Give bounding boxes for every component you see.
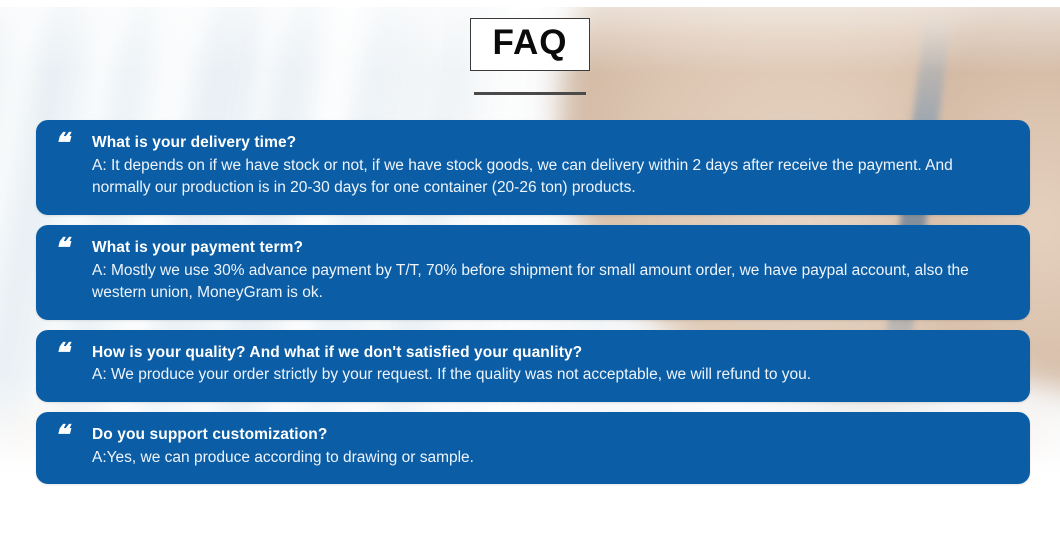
faq-list: ❝ What is your delivery time? A: It depe… [36, 120, 1030, 494]
faq-question: Do you support customization? [92, 425, 1012, 445]
faq-heading-block: FAQ [0, 18, 1060, 95]
faq-section: FAQ ❝ What is your delivery time? A: It … [0, 0, 1060, 549]
faq-answer: A: Mostly we use 30% advance payment by … [92, 260, 1012, 305]
faq-question: What is your payment term? [92, 238, 1012, 258]
faq-item[interactable]: ❝ Do you support customization? A:Yes, w… [36, 412, 1030, 484]
quote-icon: ❝ [54, 237, 78, 259]
quote-icon: ❝ [54, 424, 78, 446]
faq-heading-underline [474, 92, 586, 95]
faq-item[interactable]: ❝ What is your delivery time? A: It depe… [36, 120, 1030, 215]
quote-icon: ❝ [54, 132, 78, 154]
page-title: FAQ [493, 25, 568, 62]
faq-question: What is your delivery time? [92, 133, 1012, 153]
faq-question: How is your quality? And what if we don'… [92, 343, 1012, 363]
faq-item[interactable]: ❝ What is your payment term? A: Mostly w… [36, 225, 1030, 320]
faq-answer: A: It depends on if we have stock or not… [92, 155, 1012, 200]
faq-item[interactable]: ❝ How is your quality? And what if we do… [36, 330, 1030, 402]
quote-icon: ❝ [54, 342, 78, 364]
faq-heading-box: FAQ [470, 18, 591, 71]
faq-answer: A: We produce your order strictly by you… [92, 364, 1012, 386]
faq-answer: A:Yes, we can produce according to drawi… [92, 447, 1012, 469]
